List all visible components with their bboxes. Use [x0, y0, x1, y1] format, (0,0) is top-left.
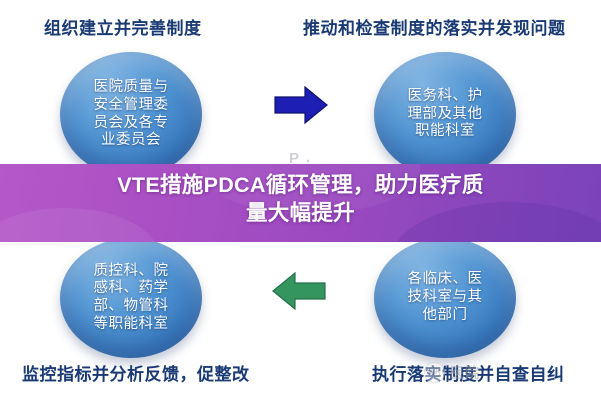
arrow-right-blue-icon	[273, 84, 329, 126]
banner-title-line2: 量大幅提升	[246, 201, 355, 225]
node-plan-label: 医院质量与 安全管理委 员会及各专 业委员会	[80, 79, 183, 150]
node-check: 各临床、医 技科室与其 他部门	[374, 238, 516, 358]
node-do: 医务科、护 理部及其他 职能科室	[374, 52, 516, 177]
title-banner: VTE措施PDCA循环管理，助力医疗质 量大幅提升	[0, 164, 601, 242]
arrow-left-green-icon	[271, 271, 327, 311]
node-do-label: 医务科、护 理部及其他 职能科室	[394, 88, 497, 141]
wechat-icon	[424, 362, 445, 383]
banner-title-line1: VTE措施PDCA循环管理，助力医疗质	[117, 173, 483, 197]
node-act-label: 质控科、院 感科、药学 部、物管科 等职能科室	[80, 263, 183, 334]
diagram-canvas: P · D · 组织建立并完善制度 推动和检查制度的落实并发现问题 监控指标并分…	[0, 0, 601, 400]
heading-top-left: 组织建立并完善制度	[44, 14, 202, 39]
node-plan: 医院质量与 安全管理委 员会及各专 业委员会	[60, 52, 202, 177]
wechat-watermark: 医院	[424, 362, 480, 383]
banner-title-text: VTE措施PDCA循环管理，助力医疗质 量大幅提升	[0, 164, 601, 228]
node-check-label: 各临床、医 技科室与其 他部门	[394, 271, 497, 324]
wechat-glyph-icon	[428, 366, 441, 379]
heading-top-right: 推动和检查制度的落实并发现问题	[303, 14, 566, 39]
watermark-label: 医院	[450, 363, 480, 383]
heading-bottom-left: 监控指标并分析反馈，促整改	[22, 360, 250, 385]
node-act: 质控科、院 感科、药学 部、物管科 等职能科室	[60, 238, 202, 358]
